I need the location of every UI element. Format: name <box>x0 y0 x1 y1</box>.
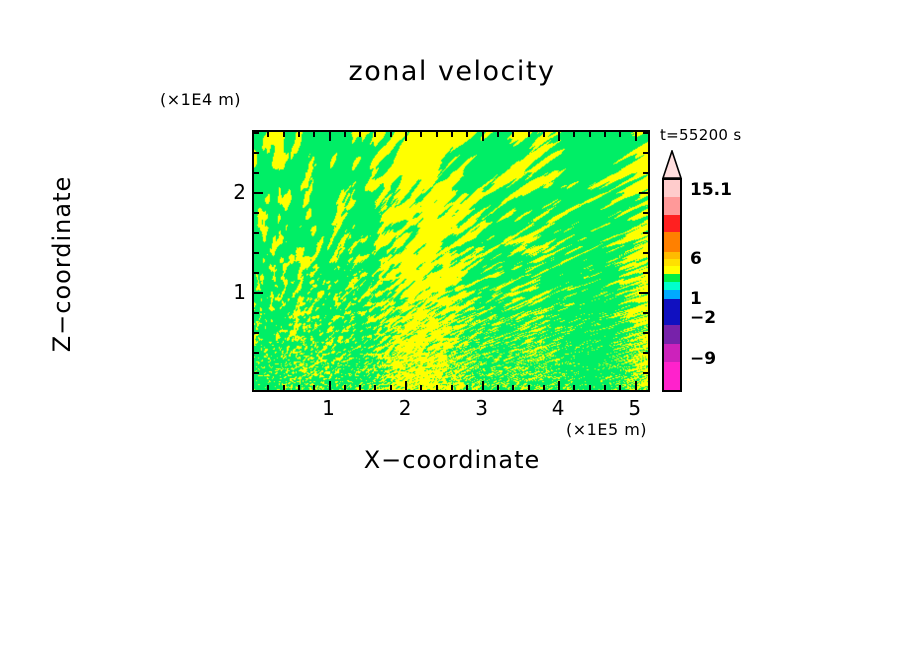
tick-mark <box>254 192 263 194</box>
tick-mark <box>643 172 648 174</box>
page-title: zonal velocity <box>0 56 904 87</box>
colorbar-band <box>664 282 680 290</box>
x-axis-unit-label: (×1E5 m) <box>566 420 647 439</box>
colorbar-band <box>664 180 680 197</box>
tick-mark <box>543 385 545 390</box>
tick-mark <box>329 381 331 390</box>
tick-mark <box>528 132 530 137</box>
colorbar-band <box>664 259 680 266</box>
tick-mark <box>512 132 514 137</box>
colorbar-band <box>664 290 680 299</box>
tick-mark <box>643 372 648 374</box>
tick-mark <box>558 381 560 390</box>
tick-mark <box>589 385 591 390</box>
tick-mark <box>390 132 392 137</box>
tick-mark <box>643 332 648 334</box>
tick-mark <box>558 132 560 141</box>
tick-mark <box>643 312 648 314</box>
colorbar-label: 1 <box>690 289 702 309</box>
tick-mark <box>254 152 259 154</box>
tick-mark <box>374 385 376 390</box>
tick-mark <box>254 292 263 294</box>
x-tick-label: 2 <box>399 396 412 420</box>
z-axis-tick-labels: 12 <box>212 130 246 392</box>
tick-mark <box>254 272 259 274</box>
x-tick-label: 4 <box>552 396 565 420</box>
tick-mark <box>298 385 300 390</box>
tick-mark <box>497 132 499 137</box>
colorbar-band <box>664 232 680 251</box>
tick-mark <box>313 385 315 390</box>
colorbar-bands <box>662 178 682 392</box>
tick-mark <box>254 212 259 214</box>
tick-mark <box>283 385 285 390</box>
x-tick-label: 3 <box>475 396 488 420</box>
tick-mark <box>420 385 422 390</box>
tick-mark <box>405 381 407 390</box>
tick-mark <box>482 132 484 141</box>
tick-mark <box>573 132 575 137</box>
tick-mark <box>528 385 530 390</box>
tick-mark <box>374 132 376 137</box>
colorbar-tick-labels: 15.161−2−9 <box>690 178 780 392</box>
tick-mark <box>359 132 361 137</box>
tick-mark <box>254 172 259 174</box>
z-tick-label: 2 <box>233 180 246 204</box>
tick-mark <box>451 132 453 137</box>
tick-mark <box>254 252 259 254</box>
tick-mark <box>254 352 259 354</box>
tick-mark <box>283 132 285 137</box>
tick-mark <box>254 132 259 134</box>
tick-mark <box>359 385 361 390</box>
tick-mark <box>643 152 648 154</box>
tick-mark <box>405 132 407 141</box>
colorbar-band <box>664 274 680 282</box>
tick-mark <box>436 385 438 390</box>
tick-mark <box>267 132 269 137</box>
colorbar-label: 15.1 <box>690 180 732 200</box>
timestamp-annotation: t=55200 s <box>660 126 741 144</box>
tick-mark <box>254 232 259 234</box>
tick-mark <box>635 132 637 141</box>
tick-mark <box>329 132 331 141</box>
tick-mark <box>639 292 648 294</box>
x-tick-label: 1 <box>322 396 335 420</box>
colorbar-label: 6 <box>690 249 702 269</box>
tick-mark <box>466 385 468 390</box>
tick-mark <box>497 385 499 390</box>
tick-mark <box>254 372 259 374</box>
colorbar-band <box>664 344 680 361</box>
tick-mark <box>436 132 438 137</box>
tick-mark <box>512 385 514 390</box>
x-axis-title: X−coordinate <box>0 446 904 474</box>
tick-mark <box>619 132 621 137</box>
tick-mark <box>643 352 648 354</box>
tick-mark <box>604 132 606 137</box>
tick-mark <box>604 385 606 390</box>
colorbar-band <box>664 252 680 259</box>
tick-mark <box>466 132 468 137</box>
tick-mark <box>589 132 591 137</box>
tick-mark <box>390 385 392 390</box>
velocity-field-heatmap <box>254 132 648 390</box>
tick-mark <box>635 381 637 390</box>
z-axis-title: Z−coordinate <box>48 134 76 394</box>
tick-mark <box>573 385 575 390</box>
tick-mark <box>643 232 648 234</box>
tick-mark <box>543 132 545 137</box>
colorbar-band <box>664 362 680 390</box>
tick-mark <box>619 385 621 390</box>
tick-mark <box>344 132 346 137</box>
colorbar-arrow-icon <box>662 150 682 179</box>
tick-mark <box>344 385 346 390</box>
colorbar <box>662 178 682 392</box>
tick-mark <box>298 132 300 137</box>
tick-mark <box>451 385 453 390</box>
tick-mark <box>643 212 648 214</box>
colorbar-label: −2 <box>690 308 716 328</box>
tick-mark <box>254 312 259 314</box>
tick-mark <box>482 381 484 390</box>
tick-mark <box>267 385 269 390</box>
tick-mark <box>254 332 259 334</box>
tick-mark <box>420 132 422 137</box>
plot-page: zonal velocity (×1E4 m) (×1E5 m) X−coord… <box>0 0 904 654</box>
colorbar-band <box>664 266 680 275</box>
colorbar-band <box>664 197 680 214</box>
plot-area <box>252 130 650 392</box>
x-axis-tick-labels: 12345 <box>252 396 650 420</box>
colorbar-label: −9 <box>690 349 716 369</box>
colorbar-band <box>664 299 680 325</box>
x-tick-label: 5 <box>628 396 641 420</box>
colorbar-band <box>664 215 680 232</box>
tick-mark <box>643 132 648 134</box>
tick-mark <box>639 192 648 194</box>
z-axis-unit-label: (×1E4 m) <box>160 90 241 109</box>
z-tick-label: 1 <box>233 280 246 304</box>
tick-mark <box>643 252 648 254</box>
tick-mark <box>643 272 648 274</box>
tick-mark <box>313 132 315 137</box>
colorbar-band <box>664 325 680 344</box>
